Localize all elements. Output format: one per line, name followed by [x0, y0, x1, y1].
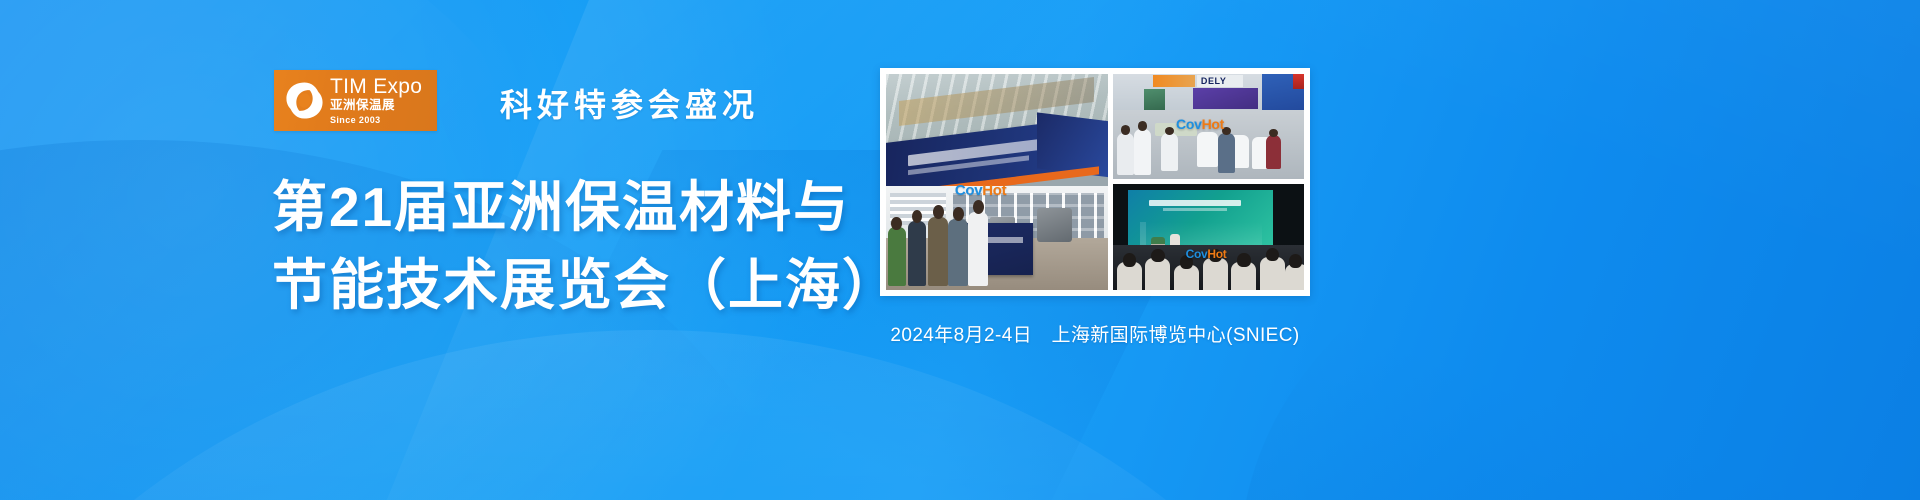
audience-member: [1145, 258, 1170, 290]
audience-member-head: [1237, 253, 1250, 267]
neighbor-booth-sign-orange: [1153, 75, 1195, 87]
brand-hot-text: Hot: [1202, 116, 1224, 132]
forum-led-screen: [1128, 190, 1273, 249]
booth-visitor-head: [912, 210, 922, 223]
audience-member: [1203, 258, 1228, 290]
forum-subtitle-plate: [1163, 208, 1227, 211]
logo-chinese-name: 亚洲保温展: [330, 99, 422, 112]
logo-text-block: TIM Expo 亚洲保温展 Since 2003: [330, 76, 422, 126]
booth-machine-display: [1037, 208, 1073, 243]
audience-member-head: [1123, 253, 1136, 267]
audience-member-head: [1266, 248, 1279, 262]
page-title: 第21届亚洲保温材料与 节能技术展览会（上海）: [272, 168, 872, 324]
hall-green-panel: [1144, 89, 1165, 110]
booth-visitor: [948, 219, 968, 286]
photo-collage[interactable]: CovHot DELY: [880, 68, 1310, 296]
audience-member: [1260, 257, 1285, 290]
covhot-brand-watermark: CovHot: [1176, 116, 1224, 132]
crowd-visitor-head: [1269, 129, 1278, 137]
booth-visitor-head: [933, 205, 944, 219]
crowd-visitor: [1161, 133, 1178, 171]
audience-member-head: [1151, 249, 1164, 263]
crowd-visitor: [1134, 129, 1151, 175]
covhot-brand-watermark: CovHot: [955, 182, 1007, 199]
crowd-visitor: [1117, 133, 1134, 175]
booth-visitor-head: [891, 217, 901, 230]
forum-title-plate: [1149, 200, 1242, 205]
headline-line-1: 第21届亚洲保温材料与: [272, 168, 872, 246]
meeting-chair: [1197, 132, 1218, 168]
tim-expo-swirl-icon: [283, 79, 326, 122]
exhibition-promo-banner: TIM Expo 亚洲保温展 Since 2003 科好特参会盛况 第21届亚洲…: [0, 0, 1920, 500]
neighbor-booth-red-accent: [1293, 74, 1304, 89]
collage-right-column: DELY CovHot: [1113, 74, 1304, 290]
brand-cov-text: Cov: [1186, 247, 1208, 261]
booth-visitor-head: [973, 200, 984, 214]
photo-forum-session[interactable]: CovHot: [1113, 184, 1304, 290]
eyebrow-heading: 科好特参会盛况: [500, 80, 759, 126]
crowd-visitor-head: [1121, 125, 1131, 134]
logo-since-year: Since 2003: [330, 116, 422, 125]
neighbor-brand-label: DELY: [1201, 76, 1227, 86]
tim-expo-logo-badge[interactable]: TIM Expo 亚洲保温展 Since 2003: [274, 70, 437, 131]
crowd-visitor: [1218, 133, 1235, 173]
brand-hot-text: Hot: [1207, 247, 1226, 261]
crowd-visitor-head: [1165, 127, 1175, 135]
date-and-venue: 2024年8月2-4日 上海新国际博览中心(SNIEC): [880, 320, 1310, 347]
booth-visitor: [888, 227, 906, 285]
booth-visitor: [968, 212, 988, 285]
booth-visitor: [908, 221, 926, 286]
booth-visitor: [928, 217, 948, 286]
audience-member-head: [1289, 254, 1302, 268]
background-swoosh-right-dark: [1240, 180, 1920, 500]
photo-exhibition-crowd[interactable]: DELY CovHot: [1113, 74, 1304, 179]
brand-hot-text: Hot: [982, 182, 1006, 199]
crowd-visitor-head: [1138, 121, 1148, 130]
brand-cov-text: Cov: [1176, 116, 1202, 132]
brand-cov-text: Cov: [955, 182, 982, 199]
banner-left-column: TIM Expo 亚洲保温展 Since 2003 科好特参会盛况 第21届亚洲…: [0, 0, 860, 500]
headline-line-2: 节能技术展览会（上海）: [272, 246, 872, 324]
crowd-visitor: [1266, 135, 1281, 169]
booth-visitor-head: [953, 207, 964, 221]
covhot-brand-watermark: CovHot: [1186, 247, 1227, 261]
photo-exhibition-booth[interactable]: CovHot: [886, 74, 1108, 290]
logo-english-name: TIM Expo: [330, 76, 422, 97]
neighbor-booth-purple-wall: [1193, 88, 1258, 109]
